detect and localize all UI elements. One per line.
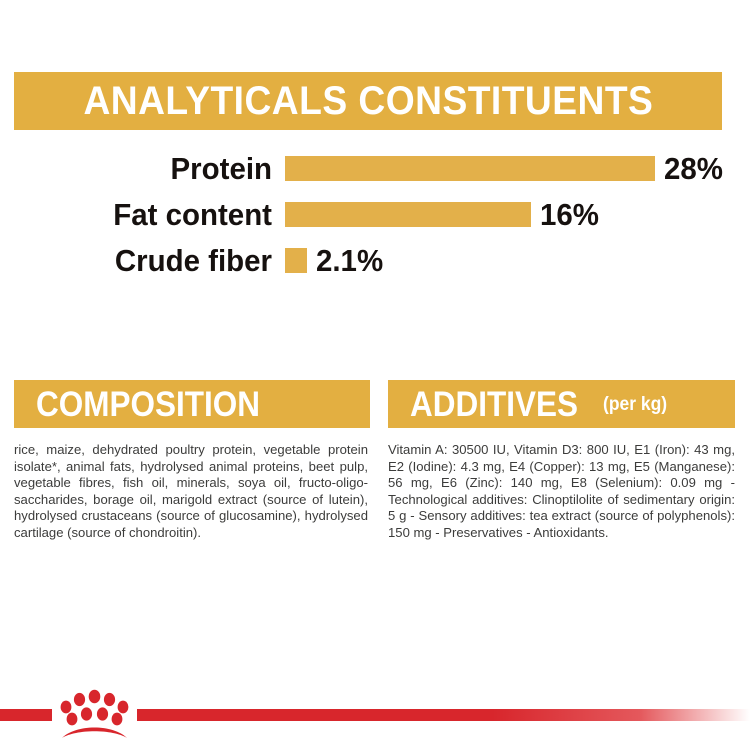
chart-category-label: Crude fiber [14,245,272,276]
chart-category-label: Protein [14,153,272,184]
chart-value-label: 2.1% [316,245,383,276]
chart-category-label: Fat content [14,199,272,230]
additives-header: ADDITIVES (per kg) [388,380,735,428]
composition-heading: COMPOSITION [36,387,260,422]
chart-row: Crude fiber 2.1% [0,238,750,283]
chart-row: Protein 28% [0,146,750,191]
chart-track: 28% [272,146,750,191]
additives-heading-unit: (per kg) [603,395,667,414]
chart-bar [285,156,655,181]
brand-rule-left [0,709,52,721]
chart-track: 16% [272,192,750,237]
composition-header: COMPOSITION [14,380,370,428]
composition-panel: COMPOSITION rice, maize, dehydrated poul… [14,380,370,542]
chart-row: Fat content 16% [0,192,750,237]
chart-value-label: 16% [540,199,599,230]
analytical-constituents-chart: Protein 28% Fat content 16% Crude fiber … [0,146,750,282]
chart-value-label: 28% [664,153,723,184]
chart-track: 2.1% [272,238,750,283]
nutrition-info-panel: ANALYTICALS CONSTITUENTS Protein 28% Fat… [0,0,750,750]
additives-text: Vitamin A: 30500 IU, Vitamin D3: 800 IU,… [388,442,735,542]
page-title: ANALYTICALS CONSTITUENTS [83,81,653,121]
analytical-constituents-header: ANALYTICALS CONSTITUENTS [14,72,722,130]
royal-canin-crown-icon [52,686,137,742]
brand-rule-right [137,709,750,721]
additives-heading: ADDITIVES [410,387,578,422]
brand-footer [0,694,750,734]
chart-bar [285,248,307,273]
chart-bar [285,202,531,227]
additives-panel: ADDITIVES (per kg) Vitamin A: 30500 IU, … [388,380,735,542]
composition-text: rice, maize, dehydrated poultry protein,… [14,442,370,542]
